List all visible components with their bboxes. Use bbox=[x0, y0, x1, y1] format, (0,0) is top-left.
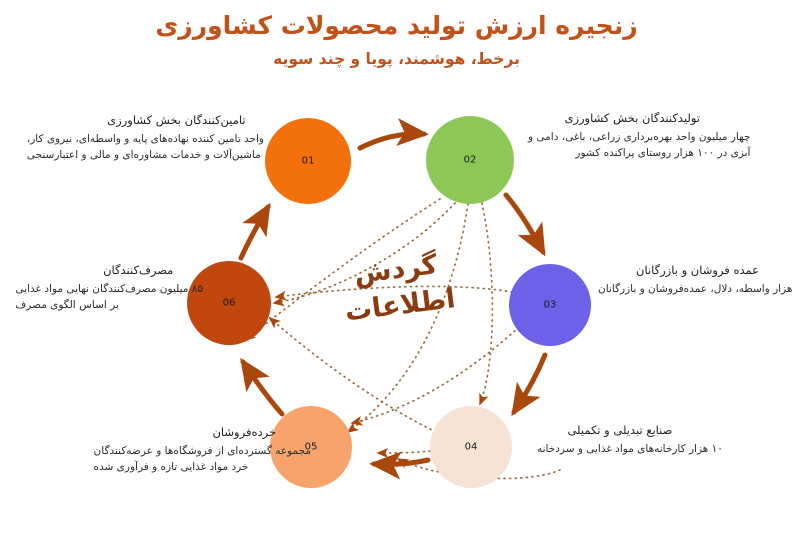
node-heading-02: تولیدکنندگان بخش کشاورزی bbox=[528, 110, 750, 128]
arrow-06-to-01 bbox=[241, 207, 268, 258]
info-line-03-to-05 bbox=[352, 327, 519, 423]
node-label-06: مصرف‌کنندگان ۸۵ میلیون مصرف‌کنندگان نهای… bbox=[15, 262, 203, 313]
node-desc-06-line-2: بر اساس الگوی مصرف bbox=[15, 297, 203, 313]
info-line-02-to-04 bbox=[480, 203, 492, 404]
node-heading-04: صنایع تبدیلی و تکمیلی bbox=[537, 422, 723, 440]
node-label-05: خرده‌فروشان مجموعه گسترده‌ای از فروشگاه‌… bbox=[94, 424, 311, 475]
node-desc-05-line-2: خرد مواد غذایی تازه و فرآوری شده bbox=[94, 459, 311, 475]
node-desc-02-line-2: آبزی در ۱۰۰ هزار روستای پراکنده کشور bbox=[528, 145, 750, 161]
info-line-04-to-05 bbox=[378, 451, 430, 453]
node-label-02: تولیدکنندگان بخش کشاورزی چهار میلیون واح… bbox=[528, 110, 750, 161]
node-circle-01[interactable] bbox=[265, 118, 351, 204]
info-line-02-to-06 bbox=[274, 203, 455, 303]
node-label-03: عمده فروشان و بازرگانان ۵۰ هزار واسطه، د… bbox=[598, 262, 793, 297]
arrow-05-to-06 bbox=[243, 362, 282, 414]
node-heading-05: خرده‌فروشان bbox=[94, 424, 311, 442]
info-line-02-to-05 bbox=[348, 204, 468, 432]
node-heading-01: تامین‌کنندگان بخش کشاورزی bbox=[27, 112, 264, 130]
node-heading-06: مصرف‌کنندگان bbox=[15, 262, 203, 280]
node-desc-03-line-1: ۵۰ هزار واسطه، دلال، عمده‌فروشان و بازرگ… bbox=[598, 281, 793, 297]
infographic-canvas: 01 02 03 04 05 06 زنجیره ارزش تولید محصو… bbox=[0, 0, 793, 544]
info-line-03-to-06 bbox=[276, 286, 512, 297]
node-circle-02[interactable] bbox=[426, 116, 514, 204]
node-desc-01-line-2: ماشین‌آلات و خدمات مشاوره‌ای و مالی و اع… bbox=[27, 147, 264, 163]
arrow-02-to-03 bbox=[506, 195, 543, 252]
node-circle-03[interactable] bbox=[509, 264, 591, 346]
node-label-01: تامین‌کنندگان بخش کشاورزی واحد تامین کنن… bbox=[27, 112, 264, 163]
node-heading-03: عمده فروشان و بازرگانان bbox=[598, 262, 793, 280]
info-line-02-to-06-outer bbox=[245, 199, 440, 340]
node-circle-04[interactable] bbox=[430, 406, 512, 488]
node-desc-06-line-1: ۸۵ میلیون مصرف‌کنندگان نهایی مواد غذایی bbox=[15, 281, 203, 297]
node-desc-01-line-1: واحد تامین کننده نهاده‌های پایه و واسطه‌… bbox=[27, 131, 264, 147]
node-desc-02-line-1: چهار میلیون واحد بهره‌برداری زراعی، باغی… bbox=[528, 129, 750, 145]
arrow-03-to-04 bbox=[514, 355, 545, 412]
node-desc-05-line-1: مجموعه گسترده‌ای از فروشگاه‌ها و عرضه‌کن… bbox=[94, 443, 311, 459]
node-label-04: صنایع تبدیلی و تکمیلی ۱۰ هزار کارخانه‌ها… bbox=[537, 422, 723, 457]
arrow-01-to-02 bbox=[360, 134, 424, 148]
node-desc-04-line-1: ۱۰ هزار کارخانه‌های مواد غذایی و سردخانه bbox=[537, 441, 723, 457]
